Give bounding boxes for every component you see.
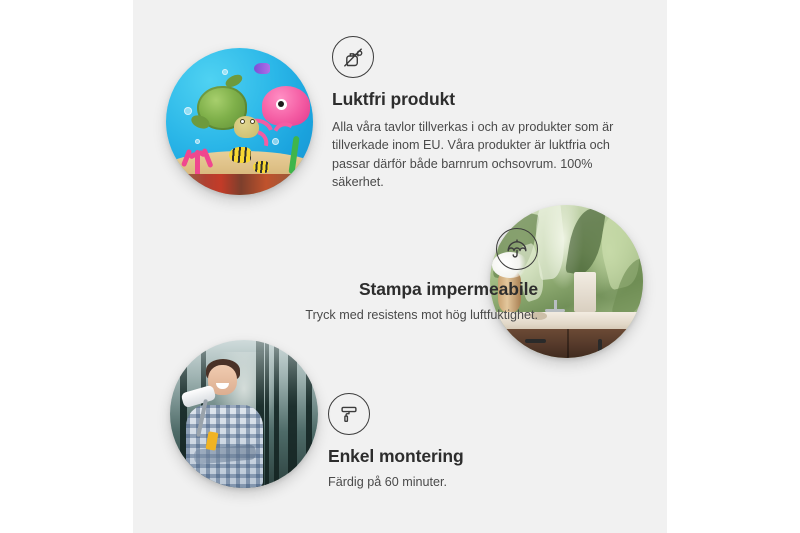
installer-scene xyxy=(170,340,318,488)
yellow-striped-fish xyxy=(229,147,251,163)
infographic-screen: Luktfri produkt Alla våra tavlor tillver… xyxy=(0,0,800,533)
cabinet-handle xyxy=(598,339,602,354)
feature-waterproof: Stampa impermeabile Tryck med resistens … xyxy=(190,228,538,324)
content-panel: Luktfri produkt Alla våra tavlor tillver… xyxy=(133,0,667,533)
tree-trunk xyxy=(274,340,279,488)
bathroom-mirror xyxy=(574,272,595,312)
icon-row xyxy=(190,228,538,270)
tree-trunk xyxy=(265,340,269,488)
bubble-icon xyxy=(222,69,228,75)
feature-description: Alla våra tavlor tillverkas i och av pro… xyxy=(332,118,632,192)
ocean-scene xyxy=(166,48,313,195)
turtle-head xyxy=(234,116,259,138)
feature-odorless: Luktfri produkt Alla våra tavlor tillver… xyxy=(332,36,632,192)
wooden-vanity xyxy=(502,329,643,358)
purple-fish xyxy=(254,63,270,75)
coral xyxy=(178,138,216,176)
feature-title: Stampa impermeabile xyxy=(190,279,538,301)
bubble-icon xyxy=(184,107,192,115)
feature-title: Enkel montering xyxy=(328,446,618,468)
product-image-ocean xyxy=(166,48,313,195)
tree-trunk xyxy=(306,340,312,488)
yellow-striped-fish xyxy=(253,161,269,173)
octopus-eye xyxy=(276,99,287,110)
feature-install: Enkel montering Färdig på 60 minuter. xyxy=(328,393,618,491)
paint-roller-icon xyxy=(328,393,370,435)
vanity-seam xyxy=(567,329,569,358)
feature-description: Tryck med resistens mot hög luftfuktighe… xyxy=(190,306,538,325)
turtle-eye xyxy=(240,119,245,124)
feature-title: Luktfri produkt xyxy=(332,89,632,111)
drawer-handle xyxy=(525,339,546,343)
umbrella-icon xyxy=(496,228,538,270)
feature-description: Färdig på 60 minuter. xyxy=(328,473,618,492)
tree-trunk xyxy=(288,340,297,488)
product-image-installer xyxy=(170,340,318,488)
no-fragrance-icon xyxy=(332,36,374,78)
turtle-eye xyxy=(250,119,255,124)
photo-strip-edge xyxy=(178,174,304,195)
